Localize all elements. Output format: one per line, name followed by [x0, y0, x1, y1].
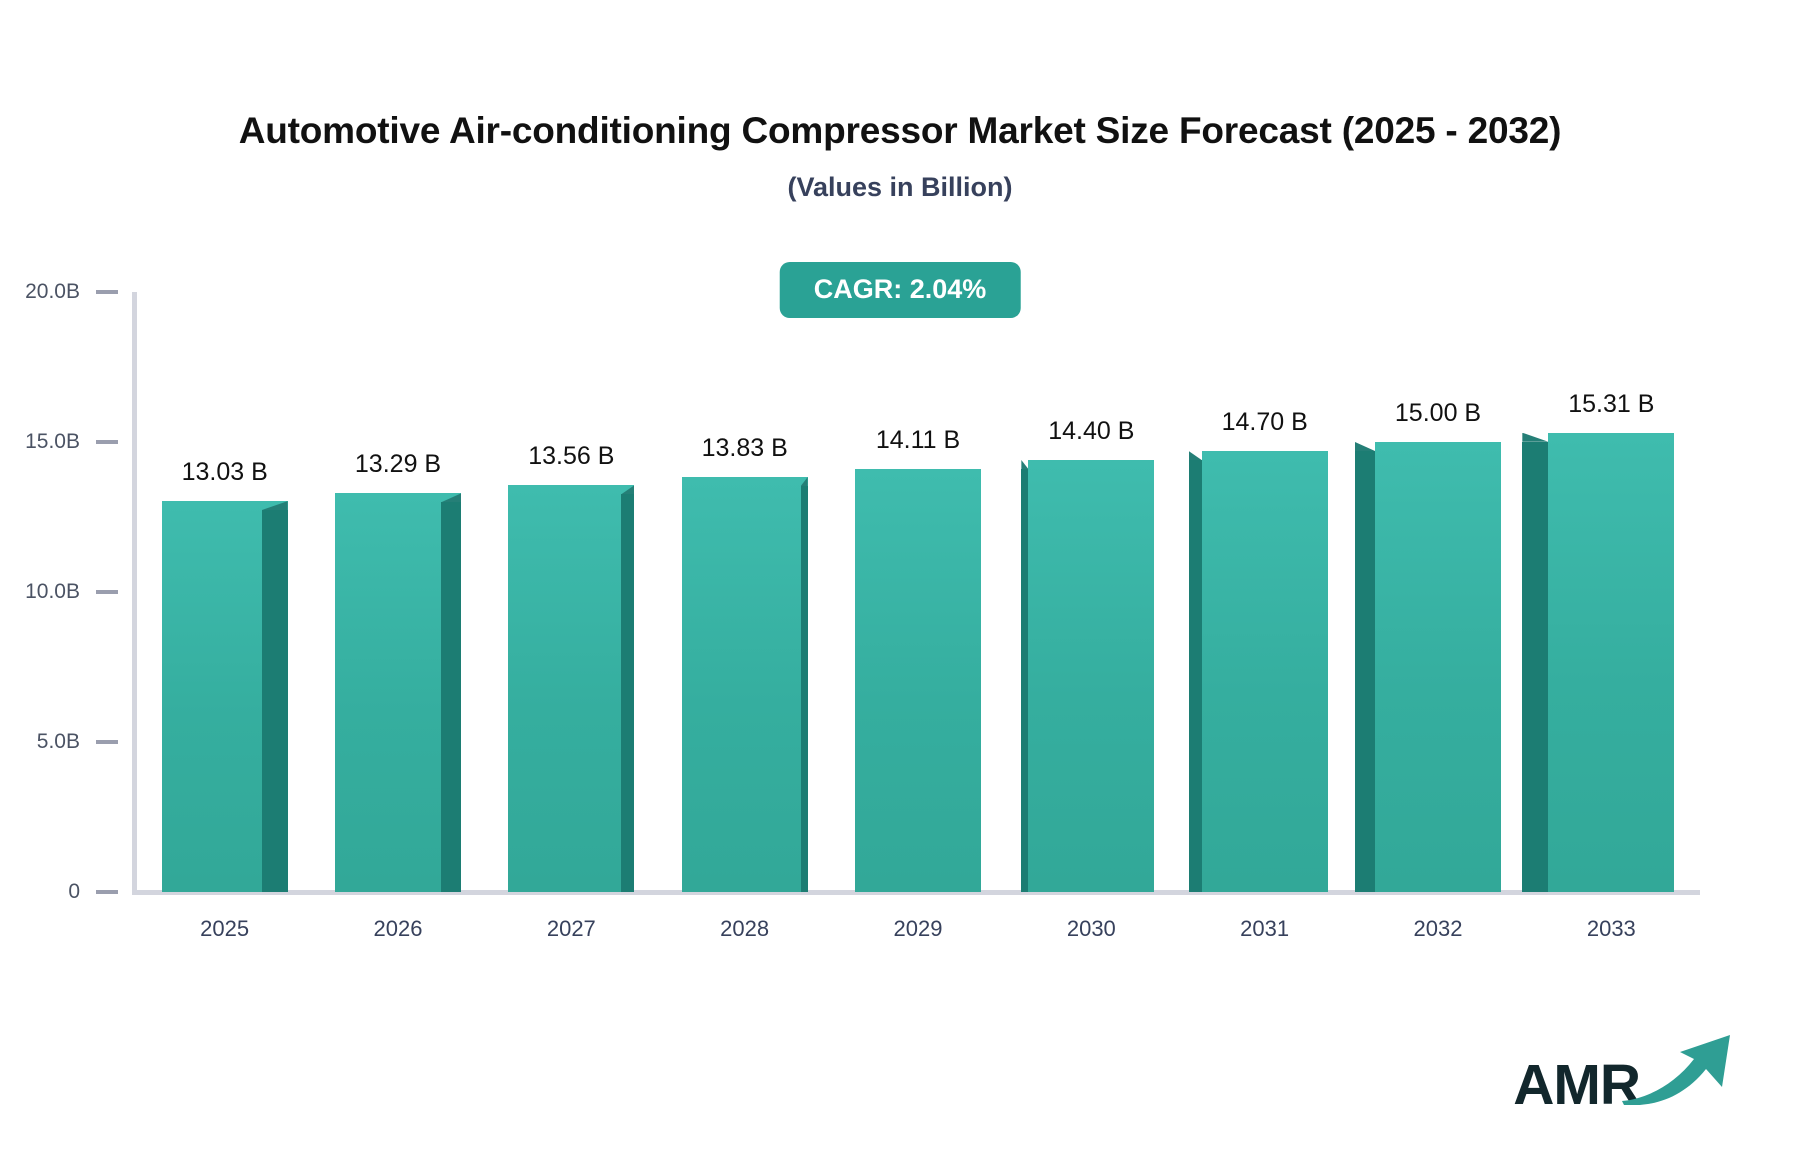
- bar-2028[interactable]: 13.83 B: [682, 477, 808, 892]
- y-axis-tick-label: 5.0B: [37, 730, 80, 754]
- x-axis-label-2026: 2026: [374, 916, 423, 942]
- bar-front-face: [1375, 442, 1501, 892]
- bar-side-face: [801, 486, 808, 892]
- chart-subtitle: (Values in Billion): [0, 172, 1800, 203]
- bar-side-face: [1355, 451, 1375, 892]
- amr-logo: AMR: [1513, 1031, 1738, 1114]
- y-axis-tick-mark: [96, 890, 118, 894]
- x-axis-label-2033: 2033: [1587, 916, 1636, 942]
- bar-value-label: 15.31 B: [1568, 390, 1654, 419]
- bar-2027[interactable]: 13.56 B: [508, 485, 634, 892]
- bar-top-face: [1189, 451, 1202, 460]
- x-axis-label-2025: 2025: [200, 916, 249, 942]
- bar-value-label: 13.83 B: [702, 434, 788, 463]
- bar-value-label: 13.03 B: [182, 458, 268, 487]
- page-title: Automotive Air-conditioning Compressor M…: [0, 110, 1800, 152]
- bar-side-face: [1021, 469, 1028, 892]
- bar-2031[interactable]: 14.70 B: [1202, 451, 1328, 892]
- y-axis-tick-mark: [96, 440, 118, 444]
- x-axis-label-2028: 2028: [720, 916, 769, 942]
- growth-arrow-icon: [1618, 1031, 1738, 1110]
- x-axis-label-2031: 2031: [1240, 916, 1289, 942]
- x-axis-label-2030: 2030: [1067, 916, 1116, 942]
- x-axis-label-2032: 2032: [1414, 916, 1463, 942]
- bar-side-face: [1522, 442, 1548, 892]
- x-axis-label-2029: 2029: [894, 916, 943, 942]
- bar-2025[interactable]: 13.03 B: [162, 501, 288, 892]
- bar-value-label: 14.11 B: [876, 426, 960, 455]
- bar-value-label: 14.40 B: [1048, 417, 1134, 446]
- bar-side-face: [621, 494, 634, 892]
- y-axis-tick-mark: [96, 590, 118, 594]
- y-axis-tick: 15.0B: [25, 430, 132, 454]
- bar-front-face: [1028, 460, 1154, 892]
- bar-2032[interactable]: 15.00 B: [1375, 442, 1501, 892]
- y-axis-tick-label: 10.0B: [25, 580, 80, 604]
- bar-top-face: [1021, 460, 1028, 469]
- bar-front-face: [1548, 433, 1674, 892]
- bar-front-face: [1202, 451, 1328, 892]
- bar-side-face: [1189, 460, 1202, 892]
- bar-top-face: [1522, 433, 1548, 442]
- y-axis-tick-label: 0: [68, 880, 80, 904]
- bar-2026[interactable]: 13.29 B: [335, 493, 461, 892]
- bar-front-face: [508, 485, 634, 892]
- y-axis-tick: 0: [68, 880, 132, 904]
- bar-2033[interactable]: 15.31 B: [1548, 433, 1674, 892]
- bar-value-label: 15.00 B: [1395, 399, 1481, 428]
- bar-value-label: 13.29 B: [355, 450, 441, 479]
- x-axis-label-2027: 2027: [547, 916, 596, 942]
- bar-side-face: [262, 510, 288, 892]
- bar-value-label: 14.70 B: [1222, 408, 1308, 437]
- bar-top-face: [1355, 442, 1375, 451]
- y-axis-tick: 20.0B: [25, 280, 132, 304]
- bar-front-face: [855, 469, 981, 892]
- bar-side-face: [441, 502, 461, 892]
- y-axis-tick-mark: [96, 740, 118, 744]
- chart-canvas: Automotive Air-conditioning Compressor M…: [0, 0, 1800, 1156]
- plot-area: 05.0B10.0B15.0B20.0B13.03 B13.29 B13.56 …: [132, 292, 1692, 892]
- y-axis-tick: 5.0B: [37, 730, 132, 754]
- bar-value-label: 13.56 B: [528, 442, 614, 471]
- bar-2030[interactable]: 14.40 B: [1028, 460, 1154, 892]
- y-axis-tick-mark: [96, 290, 118, 294]
- bar-front-face: [682, 477, 808, 892]
- bar-2029[interactable]: 14.11 B: [855, 469, 981, 892]
- y-axis-tick-label: 15.0B: [25, 430, 80, 454]
- y-axis-tick-label: 20.0B: [25, 280, 80, 304]
- y-axis-tick: 10.0B: [25, 580, 132, 604]
